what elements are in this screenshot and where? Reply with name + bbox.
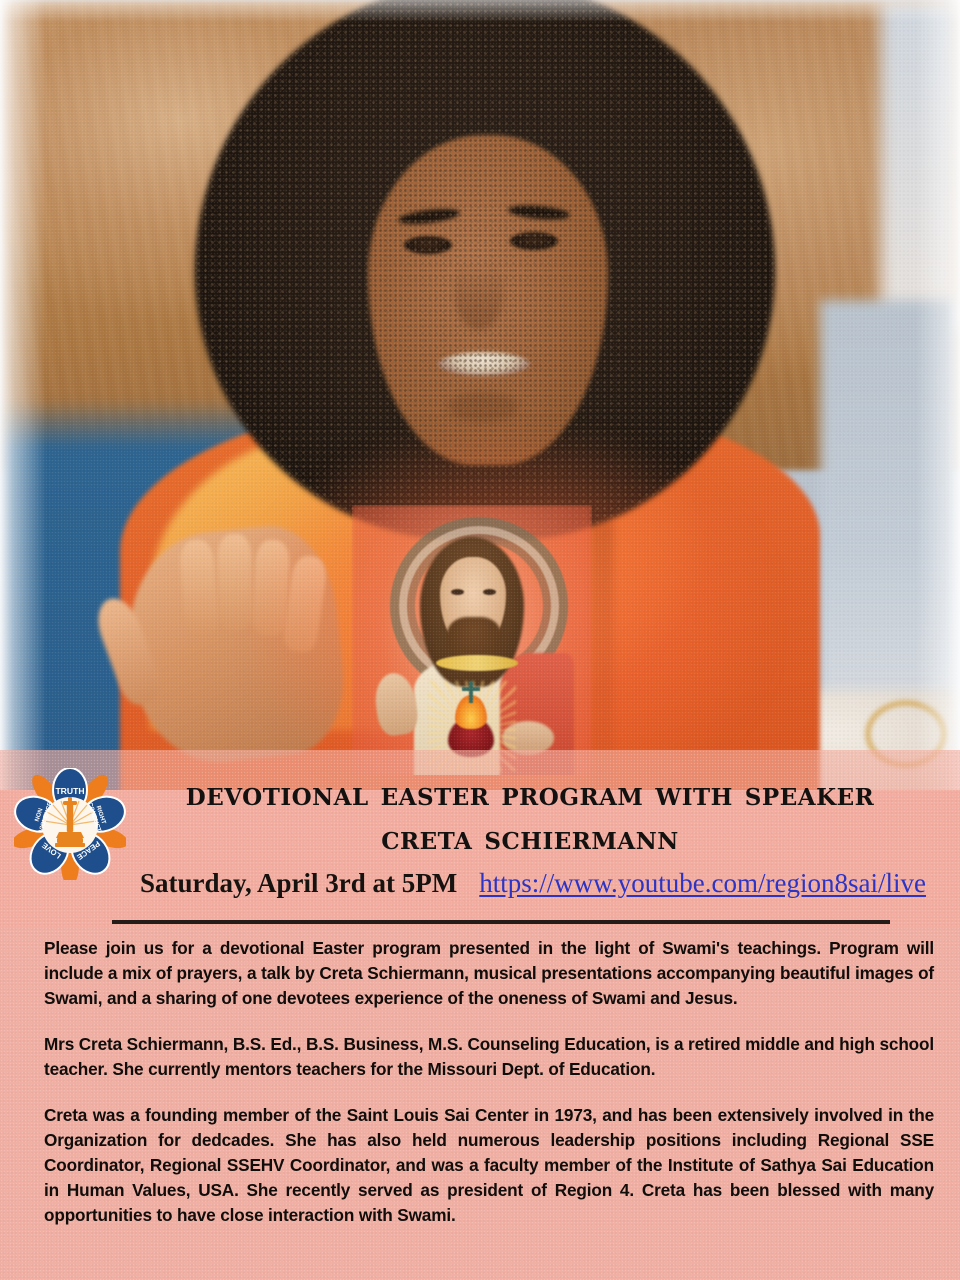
body-copy: Please join us for a devotional Easter p… [44,936,934,1228]
paragraph-bio-credentials: Mrs Creta Schiermann, B.S. Ed., B.S. Bus… [44,1032,934,1082]
photo-edge-fade [0,0,960,790]
sai-baba-photo [0,0,960,790]
paragraph-intro: Please join us for a devotional Easter p… [44,936,934,1011]
easter-program-flyer: TRUTH RIGHTCONDUCT PEACE LOVE NONVIOLENC… [0,0,960,1280]
schedule-bar: Saturday, April 3rd at 5PM https://www.y… [140,868,950,899]
sarva-dharma-emblem-icon: TRUTH RIGHTCONDUCT PEACE LOVE NONVIOLENC… [14,768,126,880]
emblem-label-truth: TRUTH [55,786,84,796]
title-line-1: Devotional Easter Program with Speaker [130,772,930,816]
paragraph-bio-service: Creta was a founding member of the Saint… [44,1103,934,1228]
youtube-livestream-link[interactable]: https://www.youtube.com/region8sai/live [479,868,926,899]
title-line-2: Creta Schiermann [130,816,930,860]
event-datetime: Saturday, April 3rd at 5PM [140,868,457,899]
divider-rule [112,920,890,924]
flyer-title: Devotional Easter Program with Speaker C… [130,772,930,859]
